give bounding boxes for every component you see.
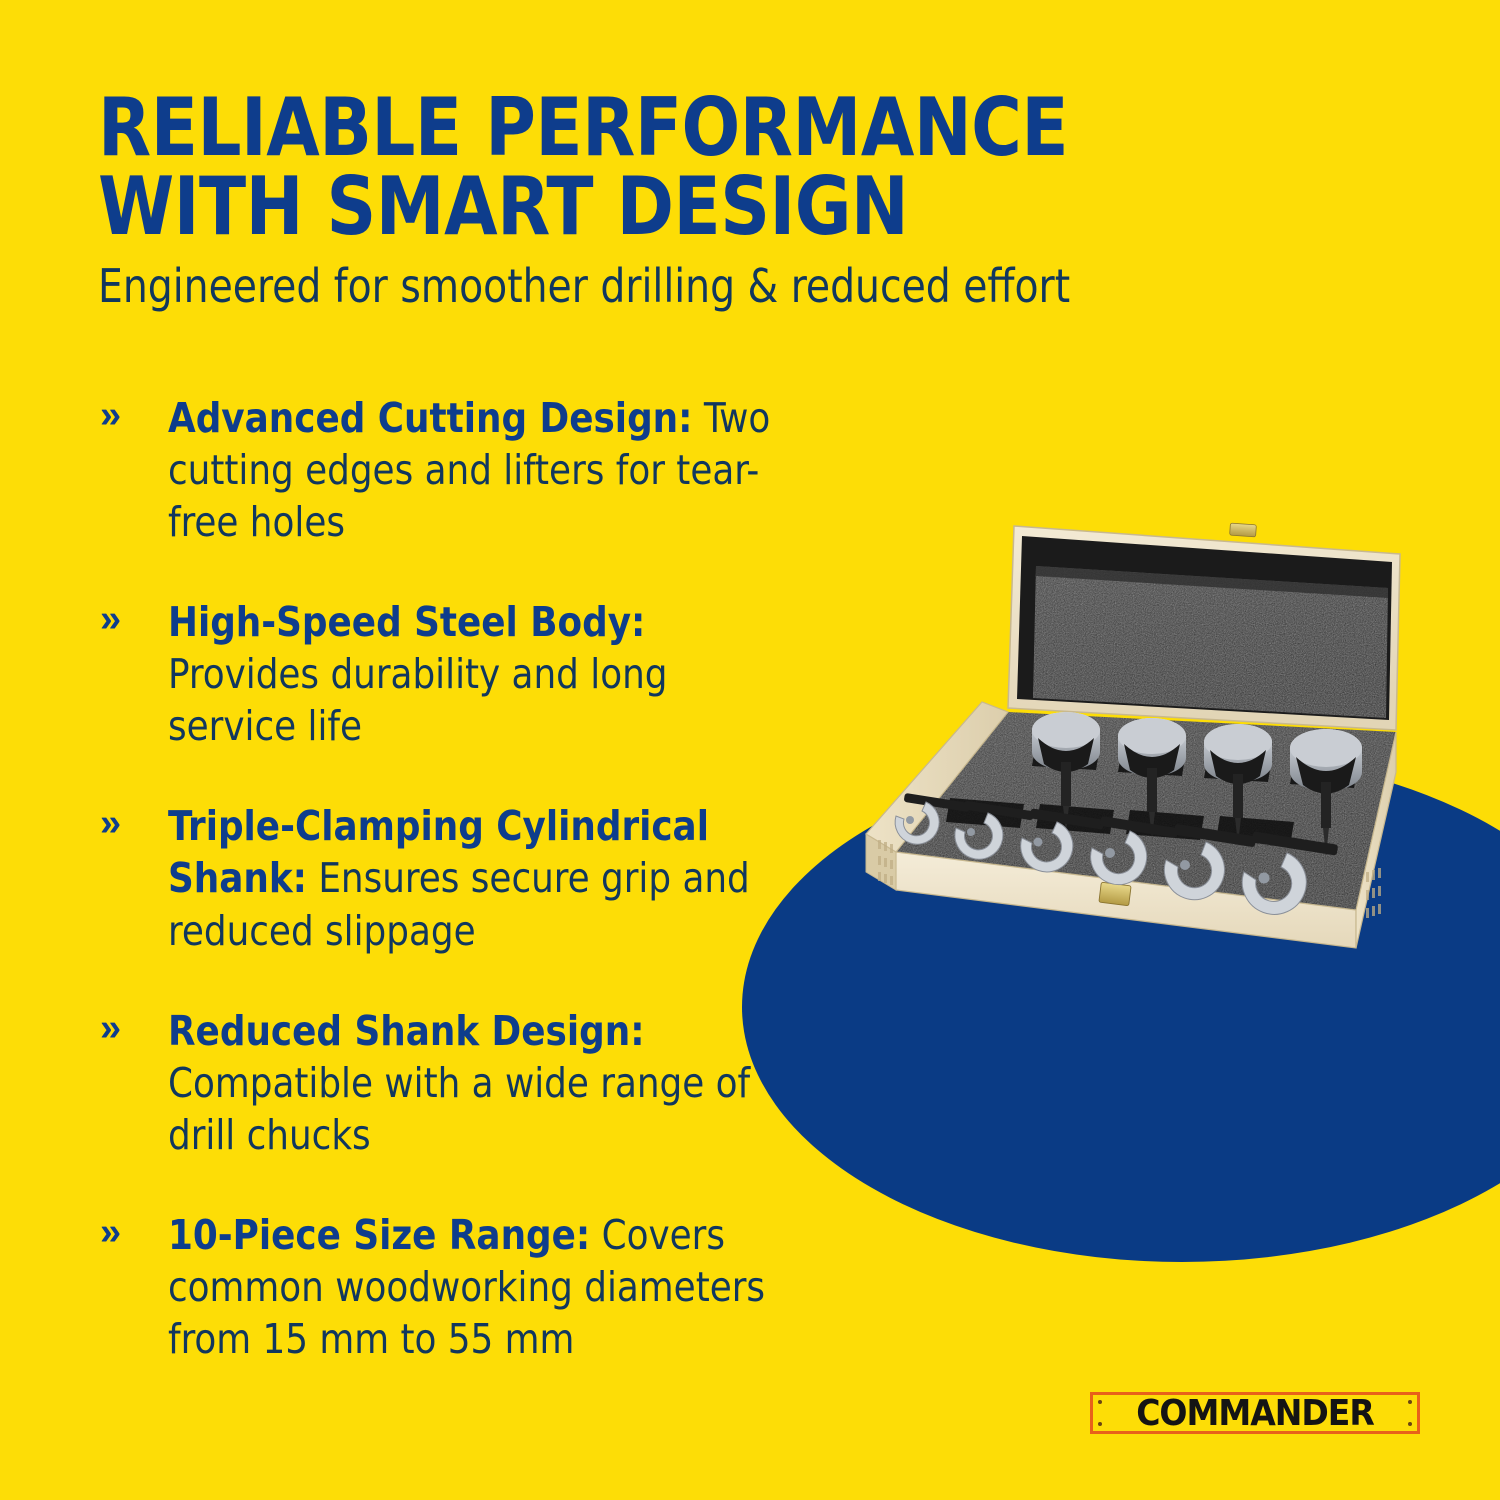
product-image-forstner-bit-set xyxy=(800,480,1440,1080)
feature-text: Advanced Cutting Design: Two cutting edg… xyxy=(168,392,799,548)
case-lid xyxy=(1008,523,1400,730)
feature-label: Reduced Shank Design: xyxy=(168,1007,645,1055)
feature-label: High-Speed Steel Body: xyxy=(168,598,645,646)
feature-list: » Advanced Cutting Design: Two cutting e… xyxy=(98,392,818,1365)
double-chevron-icon: » xyxy=(100,396,118,434)
double-chevron-icon: » xyxy=(100,1009,118,1047)
page-title: RELIABLE PERFORMANCE WITH SMART DESIGN xyxy=(98,88,1231,246)
feature-text: High-Speed Steel Body: Provides durabili… xyxy=(168,596,799,752)
case-latch-icon xyxy=(1099,882,1131,906)
feature-item-high-speed-steel-body: » High-Speed Steel Body: Provides durabi… xyxy=(98,596,818,752)
feature-text: Triple-Clamping Cylindrical Shank: Ensur… xyxy=(168,800,799,956)
brand-logo: COMMANDER xyxy=(1090,1392,1420,1434)
feature-description: Provides durability and long service lif… xyxy=(168,650,667,750)
feature-item-triple-clamping-cylindrical-shank: » Triple-Clamping Cylindrical Shank: Ens… xyxy=(98,800,818,956)
feature-text: Reduced Shank Design: Compatible with a … xyxy=(168,1005,799,1161)
case-clasp-icon xyxy=(1230,523,1257,537)
product-illustration xyxy=(800,480,1440,1080)
feature-description: Compatible with a wide range of drill ch… xyxy=(168,1059,750,1159)
feature-item-10-piece-size-range: » 10-Piece Size Range: Covers common woo… xyxy=(98,1209,818,1365)
feature-item-reduced-shank-design: » Reduced Shank Design: Compatible with … xyxy=(98,1005,818,1161)
double-chevron-icon: » xyxy=(100,600,118,638)
feature-item-advanced-cutting-design: » Advanced Cutting Design: Two cutting e… xyxy=(98,392,818,548)
double-chevron-icon: » xyxy=(100,1213,118,1251)
double-chevron-icon: » xyxy=(100,804,118,842)
headline-block: RELIABLE PERFORMANCE WITH SMART DESIGN E… xyxy=(98,88,1278,313)
feature-text: 10-Piece Size Range: Covers common woodw… xyxy=(168,1209,799,1365)
brand-name: COMMANDER xyxy=(1090,1395,1420,1431)
page-subtitle: Engineered for smoother drilling & reduc… xyxy=(98,260,1219,313)
feature-label: Advanced Cutting Design: xyxy=(168,394,692,442)
feature-label: 10-Piece Size Range: xyxy=(168,1211,590,1259)
